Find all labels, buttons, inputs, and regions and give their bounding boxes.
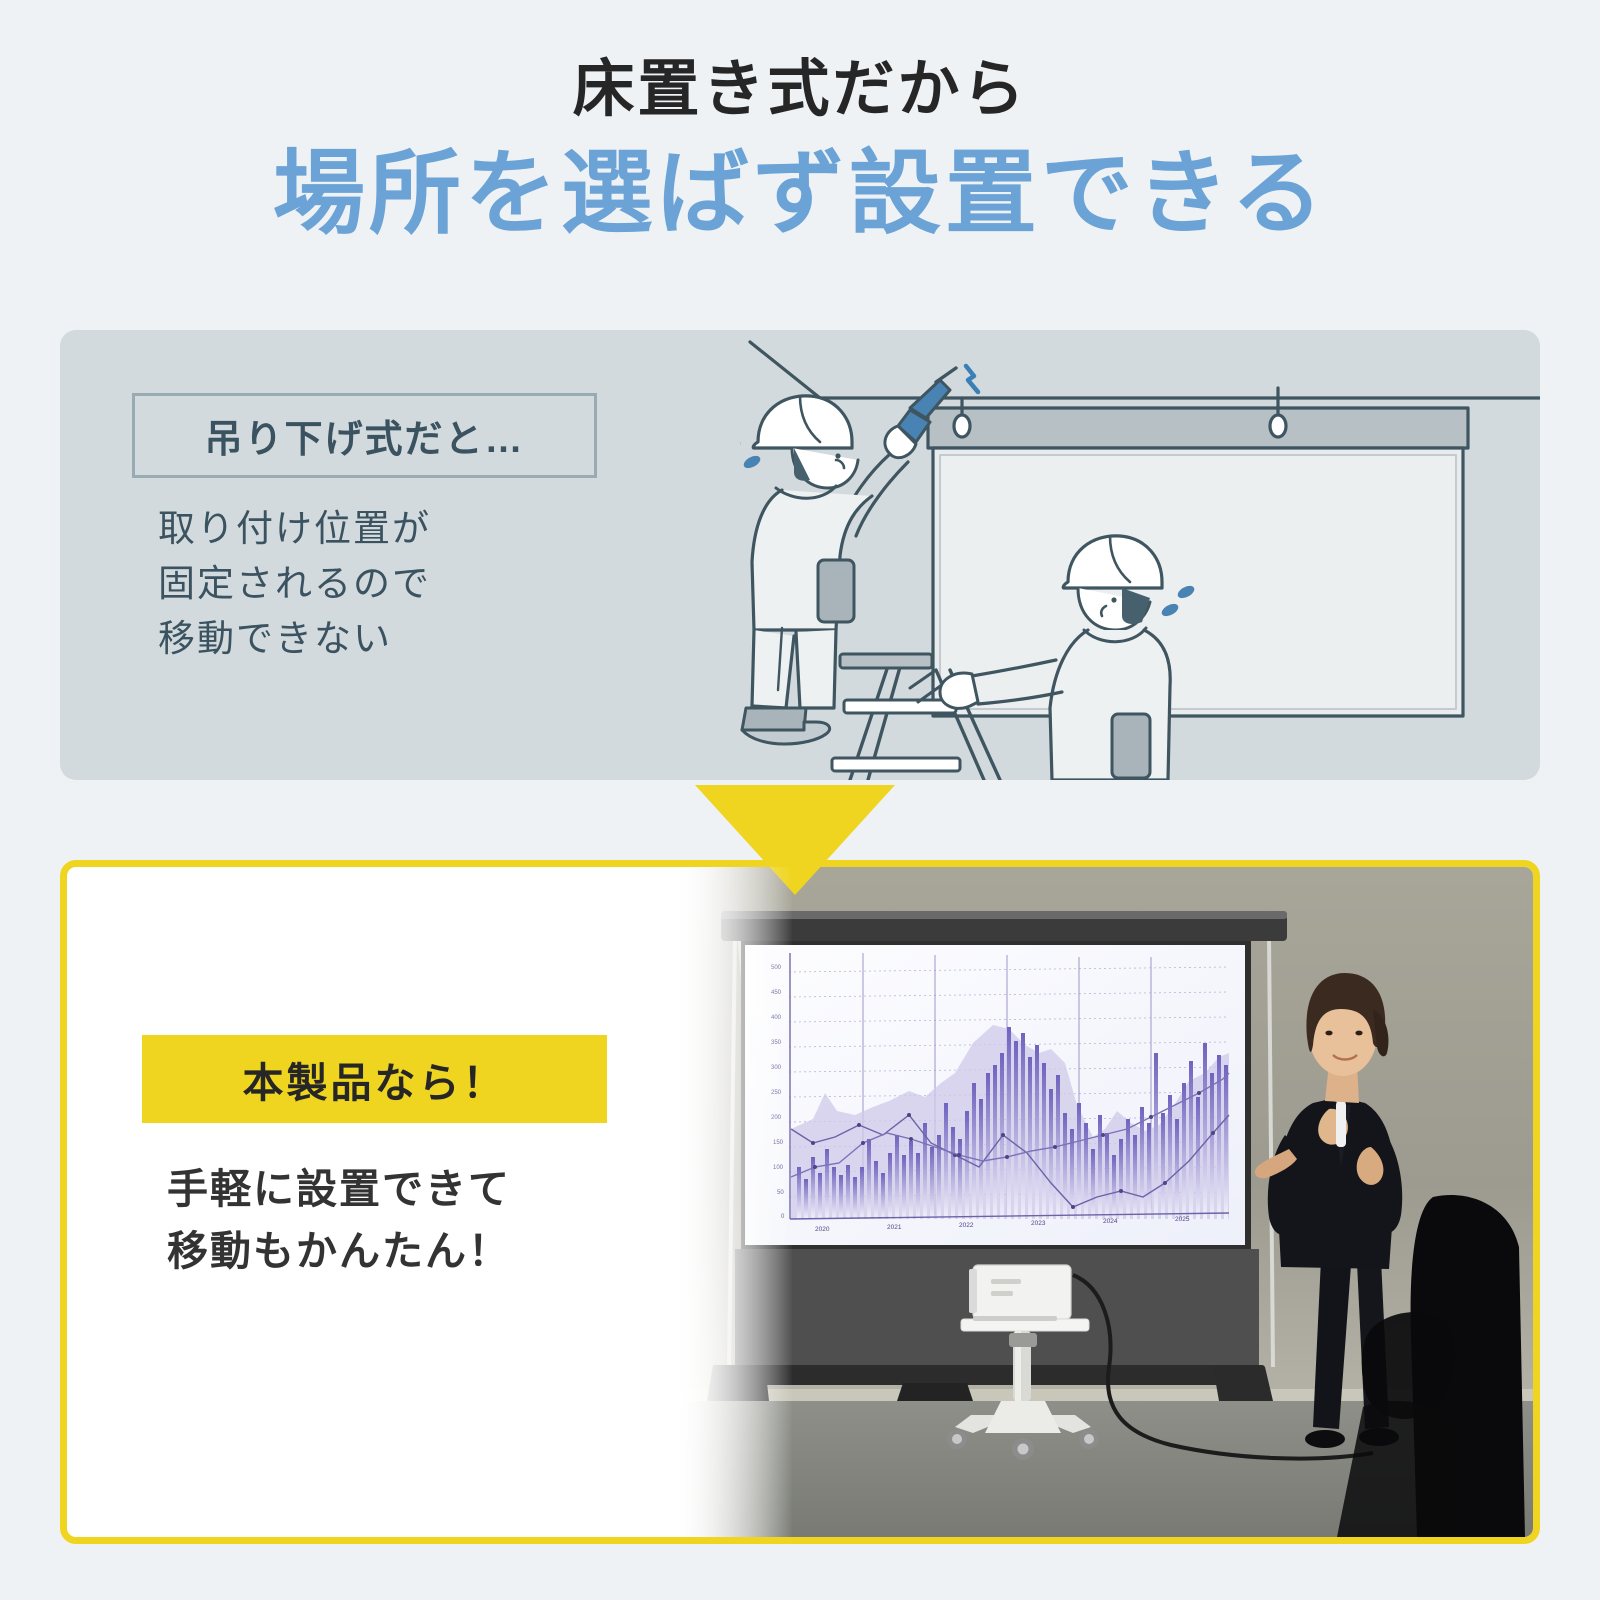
headline-line-2: 場所を選ばず設置できる — [0, 137, 1600, 252]
ceiling-screen-installation-illustration — [740, 330, 1540, 780]
svg-text:2021: 2021 — [887, 1224, 902, 1231]
problem-label-box: 吊り下げ式だと… — [132, 393, 597, 478]
solution-label-text: 本製品なら！ — [243, 1049, 507, 1109]
svg-text:2023: 2023 — [1031, 1220, 1046, 1227]
page-headline: 床置き式だから 場所を選ばず設置できる — [0, 54, 1600, 252]
problem-label-text: 吊り下げ式だと… — [204, 408, 524, 463]
svg-text:2024: 2024 — [1103, 1218, 1118, 1225]
svg-text:2020: 2020 — [815, 1226, 830, 1233]
svg-text:2025: 2025 — [1175, 1216, 1190, 1223]
headline-line-1: 床置き式だから — [0, 54, 1600, 125]
solution-body-text: 手軽に設置できて 移動もかんたん！ — [167, 1159, 511, 1282]
product-photo: 500 450 400 350 300 250 200 150 100 50 0… — [673, 867, 1533, 1537]
problem-panel: 吊り下げ式だと… 取り付け位置が 固定されるので 移動できない — [60, 330, 1540, 780]
photo-left-fade — [673, 867, 793, 1537]
problem-body-text: 取り付け位置が 固定されるので 移動できない — [158, 502, 431, 666]
product-photo-scene: 500 450 400 350 300 250 200 150 100 50 0… — [673, 867, 1533, 1537]
solution-panel: 本製品なら！ 手軽に設置できて 移動もかんたん！ — [60, 860, 1540, 1544]
svg-text:2022: 2022 — [959, 1222, 974, 1229]
solution-label-box: 本製品なら！ — [142, 1035, 607, 1123]
